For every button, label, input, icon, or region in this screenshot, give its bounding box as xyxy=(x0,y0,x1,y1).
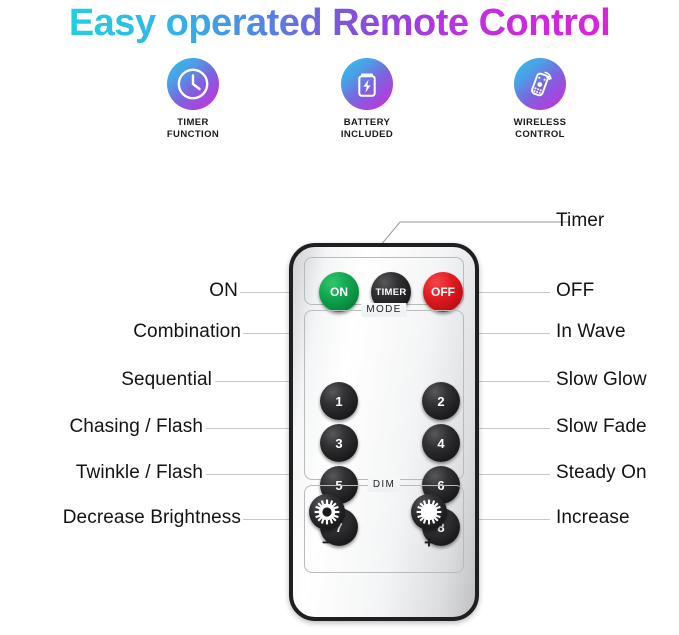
remote-dim-label: DIM xyxy=(368,478,400,492)
callout-combination: Combination xyxy=(133,321,241,343)
remote-button-mode-4[interactable]: 4 xyxy=(422,424,460,462)
feature-label-line1: BATTERY xyxy=(292,117,442,129)
remote-button-brightness-increase[interactable] xyxy=(411,494,447,530)
remote-dim-plus-sign: + xyxy=(411,535,447,551)
callout-twinkle-flash: Twinkle / Flash xyxy=(76,462,203,484)
remote-panel-power: ON TIMER OFF xyxy=(304,257,464,305)
callout-decrease-brightness: Decrease Brightness xyxy=(63,507,241,529)
feature-label-line1: TIMER xyxy=(118,117,268,129)
feature-label-line2: FUNCTION xyxy=(118,129,268,141)
callout-timer: Timer xyxy=(556,210,604,232)
remote-button-mode-3[interactable]: 3 xyxy=(320,424,358,462)
feature-badges: TIMER FUNCTION BATTERY INCLUDED xyxy=(0,58,679,150)
remote-mode-label: MODE xyxy=(361,303,406,317)
feature-battery-included: BATTERY INCLUDED xyxy=(292,58,442,140)
callout-off: OFF xyxy=(556,280,594,302)
feature-label-line2: INCLUDED xyxy=(292,129,442,141)
callout-sequential: Sequential xyxy=(121,369,212,391)
callout-on: ON xyxy=(209,280,238,302)
remote-button-on[interactable]: ON xyxy=(319,272,359,312)
remote-button-off[interactable]: OFF xyxy=(423,272,463,312)
callout-steady-on: Steady On xyxy=(556,462,647,484)
feature-label-line2: CONTROL xyxy=(465,129,615,141)
battery-icon xyxy=(341,58,393,110)
remote-button-mode-1[interactable]: 1 xyxy=(320,382,358,420)
feature-timer-function: TIMER FUNCTION xyxy=(118,58,268,140)
callout-chasing-flash: Chasing / Flash xyxy=(69,416,203,438)
remote-button-mode-2[interactable]: 2 xyxy=(422,382,460,420)
feature-label-line1: WIRELESS xyxy=(465,117,615,129)
remote-dim-minus-sign: − xyxy=(309,535,345,551)
remote-control-body: ON TIMER OFF MODE 1 2 3 4 5 6 7 8 DIM xyxy=(289,243,479,621)
sun-icon xyxy=(414,497,444,527)
feature-wireless-control: WIRELESS CONTROL xyxy=(465,58,615,140)
page-title: Easy operated Remote Control xyxy=(69,2,610,45)
sun-filled-icon xyxy=(312,497,342,527)
page-title-container: Easy operated Remote Control xyxy=(0,0,679,46)
remote-panel-mode: MODE 1 2 3 4 5 6 7 8 xyxy=(304,310,464,480)
callout-in-wave: In Wave xyxy=(556,321,626,343)
clock-icon xyxy=(167,58,219,110)
callout-slow-glow: Slow Glow xyxy=(556,369,647,391)
remote-icon xyxy=(514,58,566,110)
callout-slow-fade: Slow Fade xyxy=(556,416,647,438)
remote-button-brightness-decrease[interactable] xyxy=(309,494,345,530)
callout-increase: Increase xyxy=(556,507,630,529)
